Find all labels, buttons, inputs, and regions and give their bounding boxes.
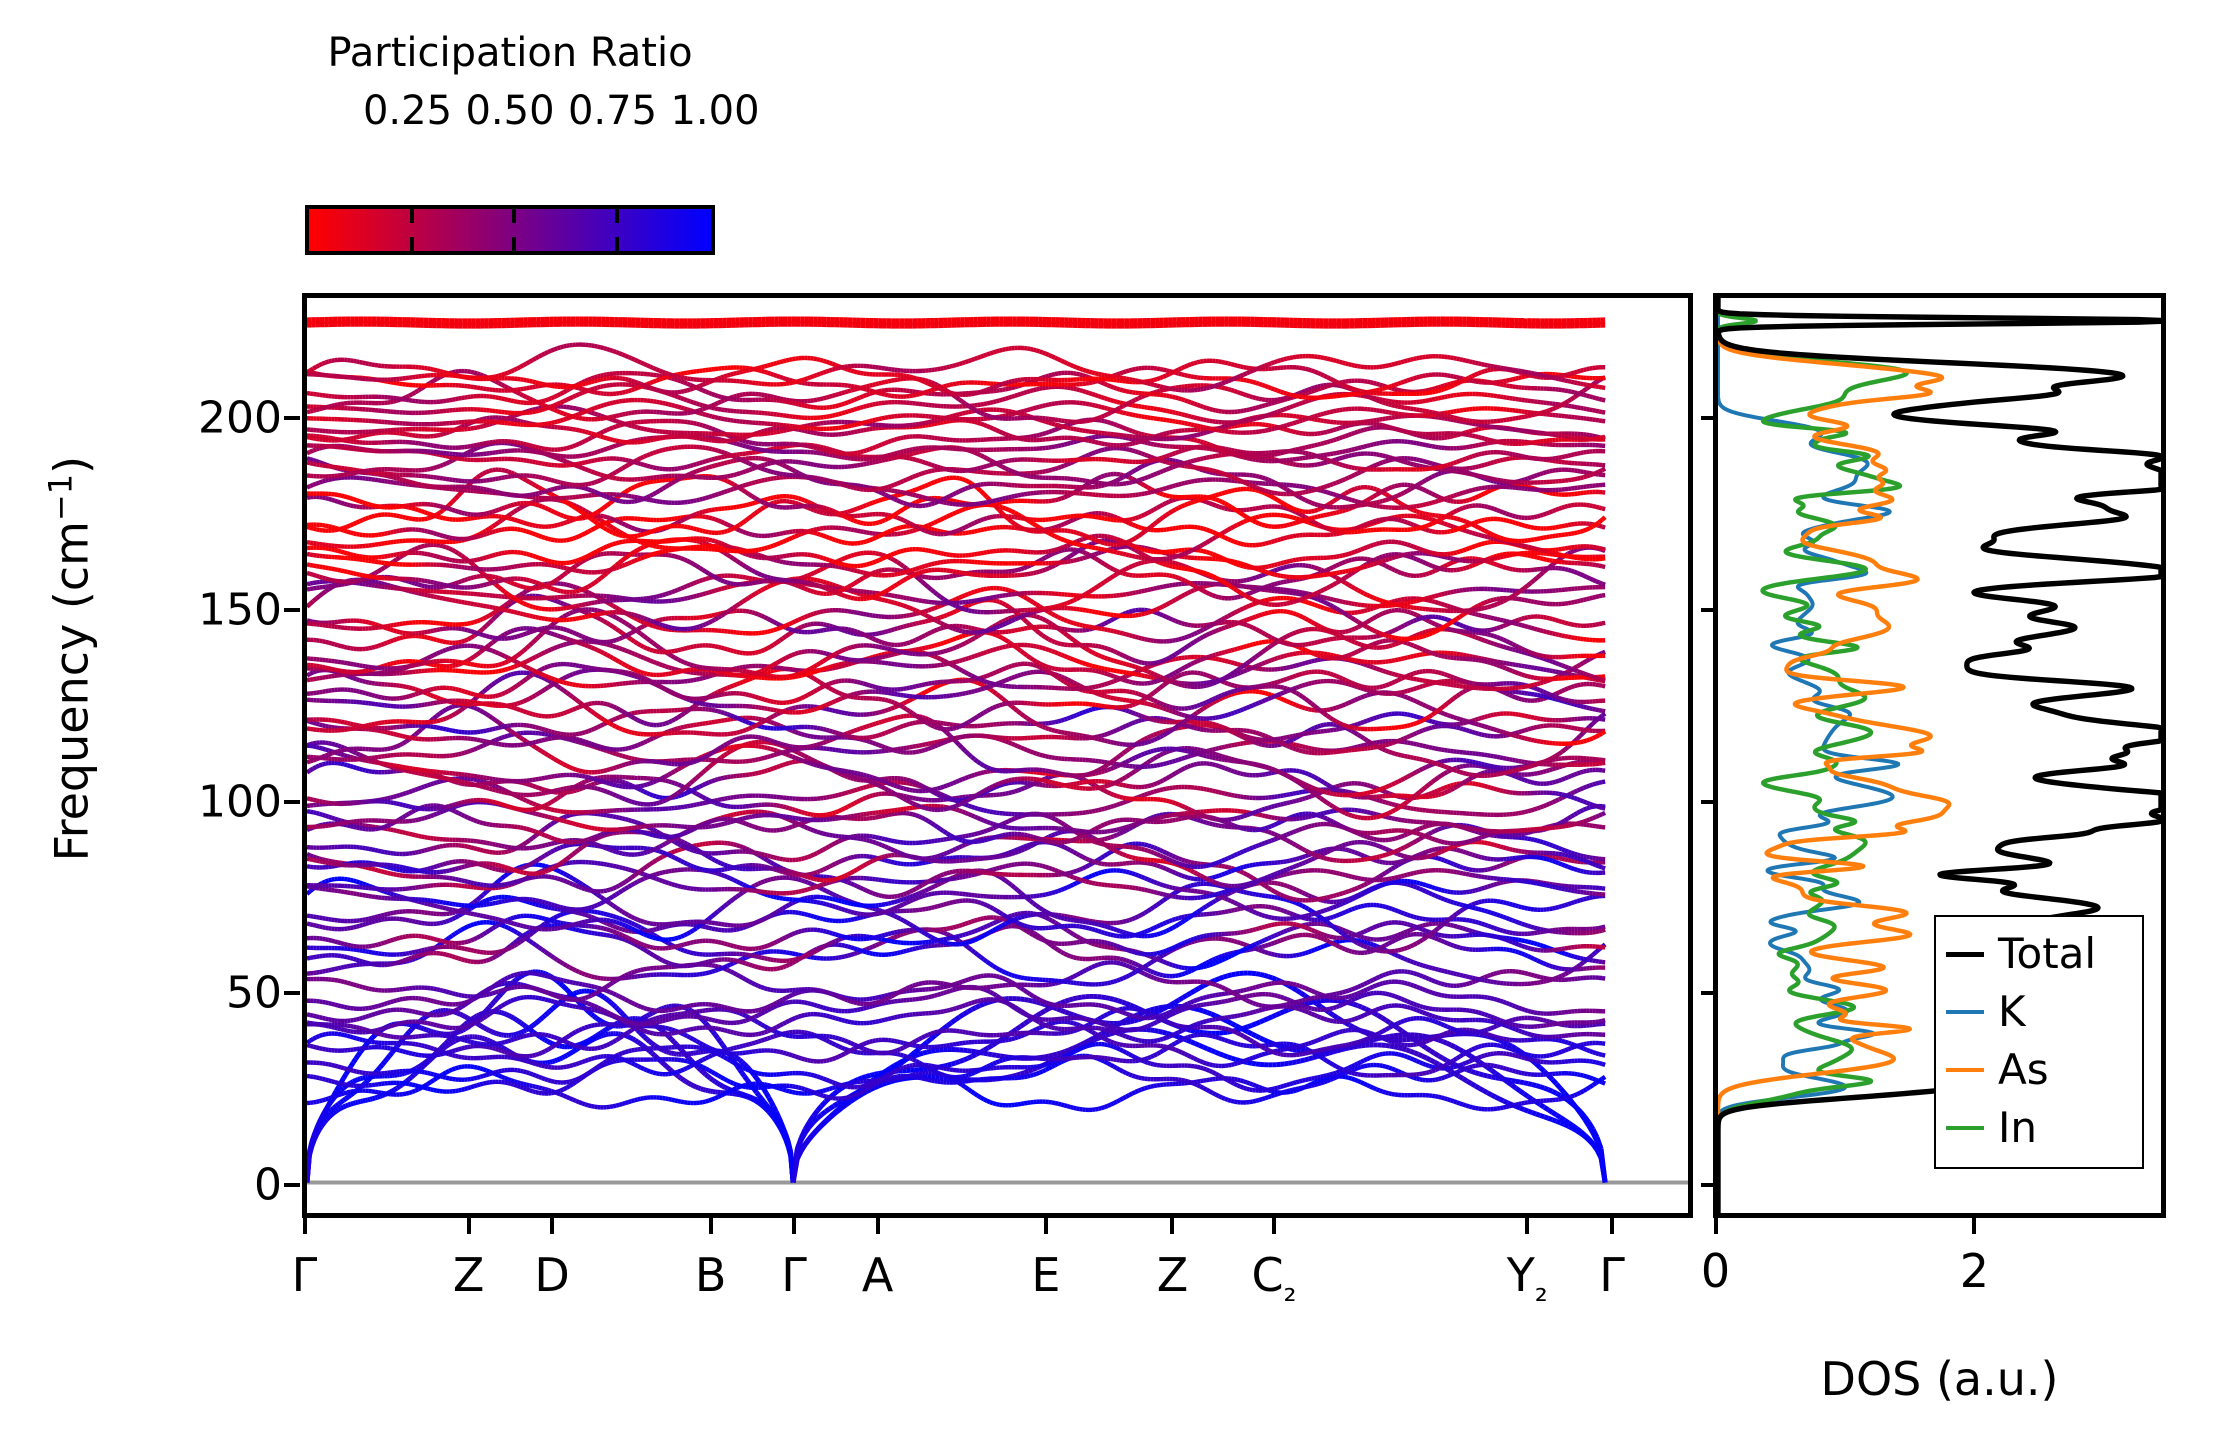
y-axis-tick-label: 50 [226,968,282,1019]
colorbar-tick-mark [410,237,414,251]
band-structure-curves [307,298,1688,1213]
legend-entry: In [1946,1099,2132,1157]
dos-x-tick-label: 0 [1701,1244,1730,1298]
x-axis-tick-mark [1272,1218,1276,1234]
x-axis-tick-mark [876,1218,880,1234]
colorbar-tick-mark [615,209,619,223]
x-axis-tick-label: C₂ [1252,1248,1297,1309]
colorbar-tick-mark [512,209,516,223]
y-axis-tick-mark [284,800,300,804]
y-axis-tick-mark [284,991,300,995]
band-x-axis: ΓZDBΓAEZC₂Y₂Γ [302,1218,1693,1348]
phonon-band-structure-plot [302,293,1693,1218]
colorbar-tick-mark [512,237,516,251]
x-axis-tick-label: E [1031,1248,1060,1302]
colorbar-tick-labels: 0.250.500.751.00 [205,88,815,134]
participation-ratio-colorbar [305,205,715,255]
legend-label: In [1998,1107,2037,1149]
colorbar-tick-mark [410,209,414,223]
x-axis-tick-label: Z [1157,1248,1189,1302]
dos-x-tick-mark [1972,1218,1976,1234]
y-axis-tick-label: 100 [198,776,282,827]
colorbar-tick-label: 0.75 [568,88,657,134]
legend-color-swatch [1946,1010,1984,1014]
x-axis-tick-label: B [695,1248,727,1302]
y-axis-tick-label: 0 [254,1159,282,1210]
legend-color-swatch [1946,1126,1984,1130]
colorbar-title: Participation Ratio [305,30,715,76]
legend-entry: Total [1946,925,2132,983]
y-axis-tick-mark [284,608,300,612]
x-axis-tick-label: Γ [1599,1248,1625,1302]
colorbar-tick-label: 0.25 [363,88,452,134]
y-axis-tick-mark [284,1183,300,1187]
x-axis-tick-label: Z [453,1248,485,1302]
dos-x-tick-label: 2 [1960,1244,1989,1298]
dos-x-axis-title: DOS (a.u.) [1713,1352,2166,1406]
dos-legend: TotalKAsIn [1934,915,2144,1169]
y-axis-tick-mark [284,416,300,420]
legend-color-swatch [1946,1068,1984,1072]
y-axis-tick-label: 150 [198,584,282,635]
legend-label: As [1998,1049,2049,1091]
legend-label: Total [1998,933,2096,975]
x-axis-tick-mark [467,1218,471,1234]
y-axis-tick-label: 200 [198,393,282,444]
x-axis-tick-label: A [862,1248,893,1302]
x-axis-tick-mark [1044,1218,1048,1234]
x-axis-tick-mark [550,1218,554,1234]
legend-entry: K [1946,983,2132,1041]
dos-x-tick-mark [1714,1218,1718,1234]
x-axis-tick-mark [303,1218,307,1234]
figure-canvas: Participation Ratio 0.250.500.751.00 050… [0,0,2222,1455]
x-axis-tick-mark [792,1218,796,1234]
x-axis-tick-label: Γ [292,1248,318,1302]
colorbar-tick-label: 0.50 [465,88,554,134]
x-axis-tick-label: D [534,1248,569,1302]
legend-entry: As [1946,1041,2132,1099]
x-axis-tick-mark [1170,1218,1174,1234]
x-axis-tick-label: Y₂ [1507,1248,1548,1309]
x-axis-tick-mark [709,1218,713,1234]
x-axis-tick-mark [1610,1218,1614,1234]
x-axis-tick-label: Γ [781,1248,807,1302]
colorbar-tick-mark [615,237,619,251]
legend-label: K [1998,991,2026,1033]
x-axis-tick-mark [1525,1218,1529,1234]
y-axis-title: Frequency (cm−1) [41,229,98,1089]
colorbar-tick-label: 1.00 [670,88,759,134]
dos-x-axis: 02 [1713,1218,2166,1348]
legend-color-swatch [1946,952,1984,957]
